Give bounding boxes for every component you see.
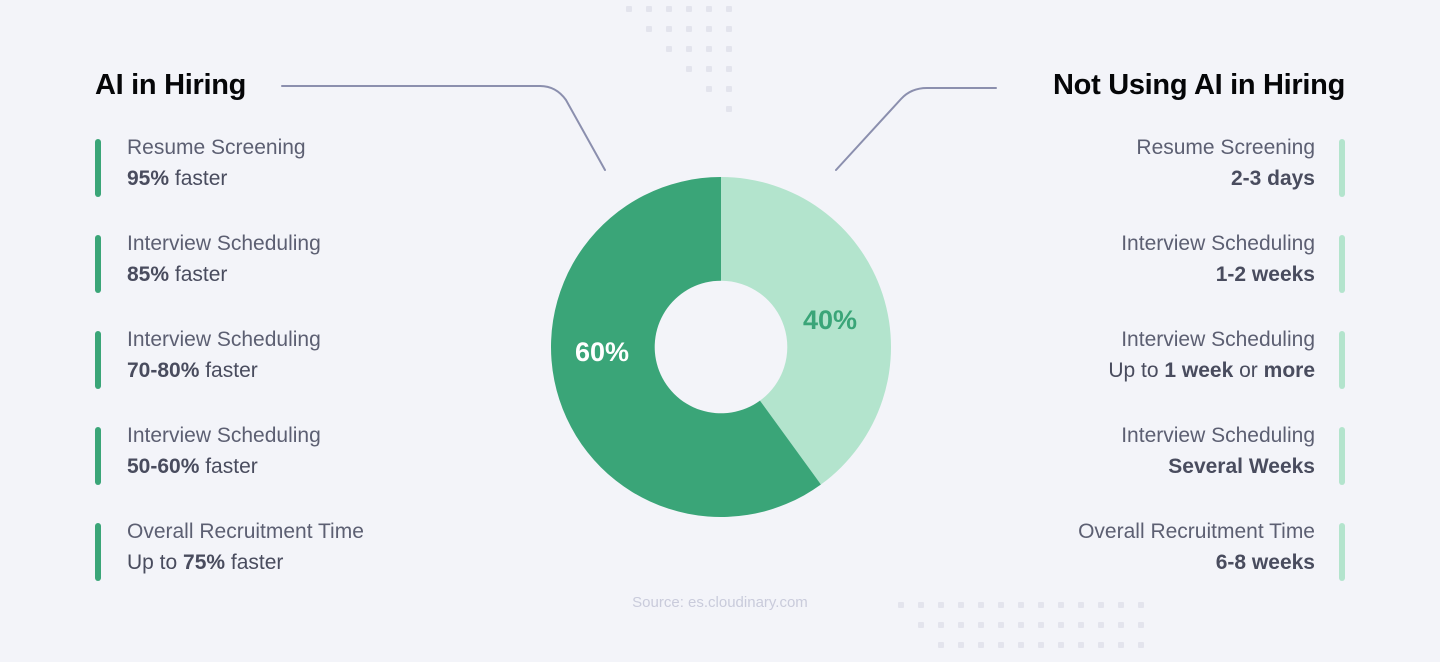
stat-text: Interview SchedulingSeveral Weeks [1121,421,1315,483]
decorative-dot [646,6,652,12]
stat-accent-bar [1339,523,1345,581]
stat-accent-bar [95,523,101,581]
decorative-dot [666,26,672,32]
stat-accent-bar [1339,139,1345,197]
decorative-dot [1138,622,1144,628]
stat-label: Interview Scheduling [127,421,321,451]
stat-value: 6-8 weeks [1078,547,1315,579]
decorative-dot [646,26,652,32]
stat-item: Interview Scheduling50-60% faster [95,421,515,517]
decorative-dot [1058,642,1064,648]
stat-accent-bar [95,427,101,485]
decorative-dot [978,622,984,628]
stat-text: Interview Scheduling85% faster [127,229,321,291]
dot-row [686,66,746,72]
stat-label: Interview Scheduling [1108,325,1315,355]
stat-item: Interview Scheduling1-2 weeks [925,229,1345,325]
decorative-dot [626,6,632,12]
stat-label: Interview Scheduling [127,229,321,259]
stat-text: Overall Recruitment TimeUp to 75% faster [127,517,364,579]
decorative-dot [686,26,692,32]
stat-item: Interview Scheduling70-80% faster [95,325,515,421]
stat-text: Resume Screening2-3 days [1136,133,1315,195]
decorative-dot [706,6,712,12]
stat-text: Interview Scheduling1-2 weeks [1121,229,1315,291]
decorative-dot [998,642,1004,648]
stat-label: Overall Recruitment Time [127,517,364,547]
stat-item: Interview SchedulingUp to 1 week or more [925,325,1345,421]
stats-column-no-ai: Resume Screening2-3 daysInterview Schedu… [925,133,1345,613]
dot-grid-top-decoration [626,6,746,126]
decorative-dot [938,642,944,648]
dot-row [646,26,746,32]
stat-label: Interview Scheduling [1121,229,1315,259]
stat-accent-bar [1339,235,1345,293]
decorative-dot [938,622,944,628]
decorative-dot [726,106,732,112]
donut-chart: 60% 40% [551,177,891,517]
stat-label: Interview Scheduling [127,325,321,355]
donut-label-primary: 60% [575,337,629,368]
decorative-dot [958,642,964,648]
infographic-canvas: AI in Hiring Not Using AI in Hiring Resu… [0,0,1440,652]
stat-item: Interview Scheduling85% faster [95,229,515,325]
decorative-dot [1078,642,1084,648]
dot-row [626,6,746,12]
decorative-dot [666,46,672,52]
decorative-dot [686,46,692,52]
stat-text: Interview SchedulingUp to 1 week or more [1108,325,1315,387]
decorative-dot [726,6,732,12]
decorative-dot [998,622,1004,628]
stat-item: Interview SchedulingSeveral Weeks [925,421,1345,517]
stat-accent-bar [95,331,101,389]
dot-row [706,86,746,92]
donut-label-secondary: 40% [803,305,857,336]
dot-row [938,642,1158,648]
stat-item: Resume Screening2-3 days [925,133,1345,229]
heading-not-using-ai-in-hiring: Not Using AI in Hiring [1053,69,1345,102]
stat-text: Interview Scheduling50-60% faster [127,421,321,483]
stat-value: Up to 75% faster [127,547,364,579]
decorative-dot [1118,642,1124,648]
decorative-dot [666,6,672,12]
stat-value: 70-80% faster [127,355,321,387]
stat-value: Up to 1 week or more [1108,355,1315,387]
stat-value: Several Weeks [1121,451,1315,483]
decorative-dot [1118,622,1124,628]
decorative-dot [686,66,692,72]
decorative-dot [726,26,732,32]
decorative-dot [686,6,692,12]
decorative-dot [706,86,712,92]
decorative-dot [706,46,712,52]
decorative-dot [1078,622,1084,628]
decorative-dot [1038,622,1044,628]
stat-value: 1-2 weeks [1121,259,1315,291]
stat-value: 85% faster [127,259,321,291]
stat-label: Interview Scheduling [1121,421,1315,451]
dot-grid-bottom-decoration [898,602,1158,662]
stat-value: 50-60% faster [127,451,321,483]
stat-accent-bar [95,235,101,293]
decorative-dot [706,26,712,32]
heading-ai-in-hiring: AI in Hiring [95,69,246,102]
stat-value: 2-3 days [1136,163,1315,195]
decorative-dot [726,86,732,92]
stat-label: Resume Screening [127,133,306,163]
stat-text: Overall Recruitment Time6-8 weeks [1078,517,1315,579]
decorative-dot [1098,642,1104,648]
decorative-dot [706,66,712,72]
source-attribution: Source: es.cloudinary.com [0,594,1440,611]
dot-row [666,46,746,52]
stat-accent-bar [95,139,101,197]
stat-accent-bar [1339,427,1345,485]
decorative-dot [978,642,984,648]
decorative-dot [1018,622,1024,628]
decorative-dot [1038,642,1044,648]
stat-item: Resume Screening95% faster [95,133,515,229]
dot-row [726,106,746,112]
decorative-dot [958,622,964,628]
decorative-dot [1138,642,1144,648]
decorative-dot [726,46,732,52]
decorative-dot [1058,622,1064,628]
stat-accent-bar [1339,331,1345,389]
decorative-dot [918,622,924,628]
stat-label: Overall Recruitment Time [1078,517,1315,547]
decorative-dot [1098,622,1104,628]
decorative-dot [1018,642,1024,648]
stat-label: Resume Screening [1136,133,1315,163]
dot-row [918,622,1158,628]
stats-column-ai: Resume Screening95% fasterInterview Sche… [95,133,515,613]
stat-text: Interview Scheduling70-80% faster [127,325,321,387]
stat-value: 95% faster [127,163,306,195]
stat-text: Resume Screening95% faster [127,133,306,195]
decorative-dot [726,66,732,72]
